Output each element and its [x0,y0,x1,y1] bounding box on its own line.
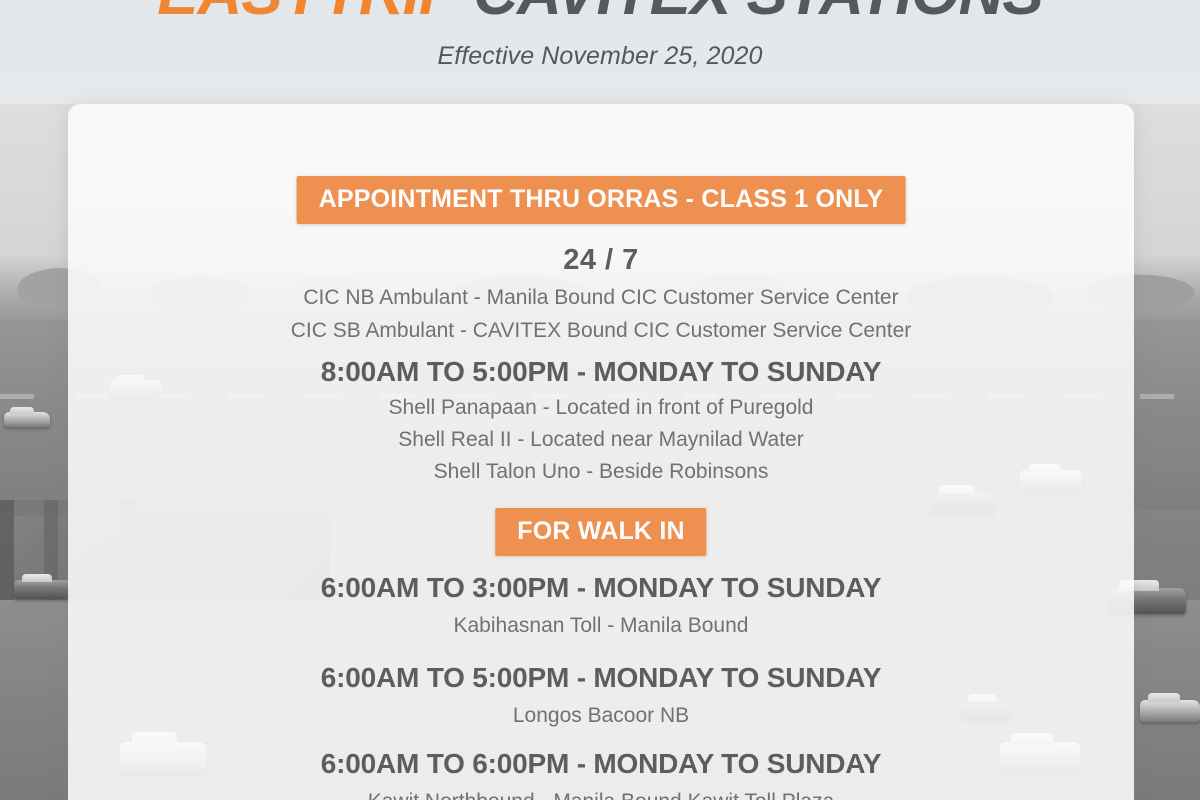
poster-canvas: EASYTRIP CAVITEX STATIONS Effective Nove… [0,0,1200,800]
effective-date-subtitle: Effective November 25, 2020 [0,42,1200,71]
station-line: CIC SB Ambulant - CAVITEX Bound CIC Cust… [68,318,1134,343]
group-heading: 8:00AM TO 5:00PM - MONDAY TO SUNDAY [68,356,1134,388]
station-line: Shell Real II - Located near Maynilad Wa… [68,427,1134,452]
banner-for-walk-in: FOR WALK IN [495,508,706,556]
photo-vehicle [4,412,50,427]
station-line: Shell Talon Uno - Beside Robinsons [68,459,1134,484]
group-heading: 6:00AM TO 5:00PM - MONDAY TO SUNDAY [68,662,1134,694]
station-line: Shell Panapaan - Located in front of Pur… [68,395,1134,420]
schedule-group-longos: 6:00AM TO 5:00PM - MONDAY TO SUNDAY Long… [68,662,1134,728]
group-heading: 6:00AM TO 3:00PM - MONDAY TO SUNDAY [68,572,1134,604]
content-card: APPOINTMENT THRU ORRAS - CLASS 1 ONLY 24… [68,104,1134,800]
schedule-group-shell: 8:00AM TO 5:00PM - MONDAY TO SUNDAY Shel… [68,356,1134,484]
station-line: Kabihasnan Toll - Manila Bound [68,613,1134,638]
photo-vehicle [14,580,72,599]
title-cavitex-stations: CAVITEX STATIONS [457,0,1043,28]
photo-vehicle [1140,700,1200,722]
title-brand-easytrip: EASYTRIP [157,0,457,28]
poster-title: EASYTRIP CAVITEX STATIONS [0,0,1200,29]
group-heading: 6:00AM TO 6:00PM - MONDAY TO SUNDAY [68,748,1134,780]
schedule-group-kabihasnan: 6:00AM TO 3:00PM - MONDAY TO SUNDAY Kabi… [68,572,1134,638]
schedule-group-247: 24 / 7 CIC NB Ambulant - Manila Bound CI… [68,244,1134,343]
station-line: Longos Bacoor NB [68,703,1134,728]
banner-appointment-orras: APPOINTMENT THRU ORRAS - CLASS 1 ONLY [297,176,906,224]
station-line: Kawit Northbound - Manila Bound Kawit To… [68,789,1134,800]
schedule-group-kawit: 6:00AM TO 6:00PM - MONDAY TO SUNDAY Kawi… [68,748,1134,800]
station-line: CIC NB Ambulant - Manila Bound CIC Custo… [68,285,1134,310]
group-heading: 24 / 7 [68,244,1134,277]
poster-header: EASYTRIP CAVITEX STATIONS Effective Nove… [0,0,1200,104]
